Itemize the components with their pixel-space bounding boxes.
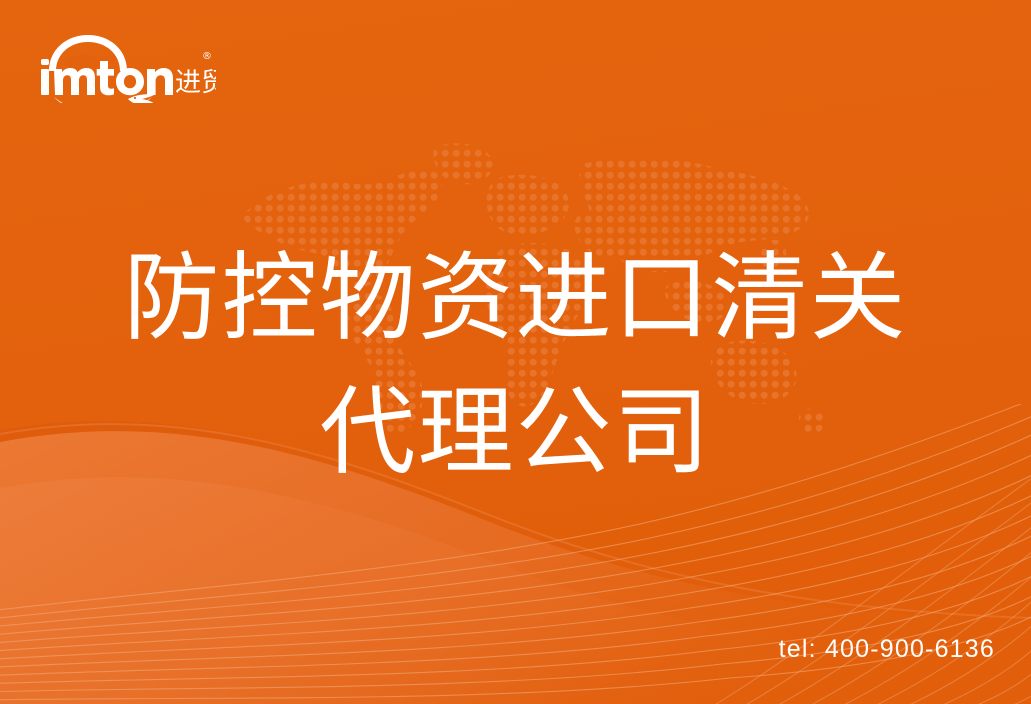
- logo-chinese-name: 进贸通: [175, 68, 216, 98]
- swoosh-fish-icon: [54, 94, 156, 103]
- headline-line-2: 代理公司: [0, 365, 1031, 499]
- registered-trademark-icon: ®: [202, 51, 212, 62]
- logo-wordmark: [41, 59, 173, 95]
- brand-logo[interactable]: 进贸通 ®: [36, 27, 216, 103]
- page-title: 防控物资进口清关 代理公司: [0, 231, 1031, 499]
- headline-line-1: 防控物资进口清关: [0, 231, 1031, 365]
- globe-arc-icon: [49, 35, 127, 73]
- poster-canvas: 进贸通 ® 防控物资进口清关 代理公司 tel: 400-900-6136: [0, 0, 1031, 704]
- contact-phone[interactable]: tel: 400-900-6136: [779, 635, 995, 664]
